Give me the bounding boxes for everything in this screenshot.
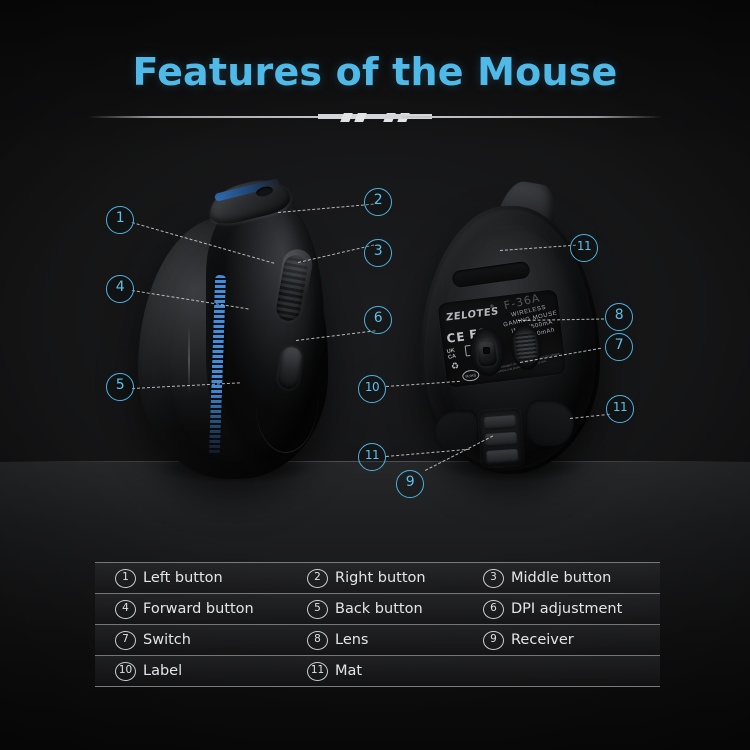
- callout-7[interactable]: 7: [605, 333, 633, 361]
- legend-item-8: 8 Lens: [307, 631, 483, 650]
- callout-11-right[interactable]: 11: [606, 395, 634, 423]
- callout-8[interactable]: 8: [605, 303, 633, 331]
- callout-10[interactable]: 10: [358, 375, 386, 403]
- legend-row: 1 Left button 2 Right button 3 Middle bu…: [95, 562, 660, 593]
- legend-item-6: 6 DPI adjustment: [483, 600, 622, 619]
- legend-label: Switch: [143, 632, 191, 648]
- legend-row: 7 Switch 8 Lens 9 Receiver: [95, 624, 660, 655]
- legend-label: Middle button: [511, 570, 611, 586]
- legend-number: 7: [115, 631, 136, 650]
- callout-5[interactable]: 5: [106, 373, 134, 401]
- legend-row: 10 Label 11 Mat: [95, 655, 660, 687]
- ce-mark-icon: CE: [446, 329, 467, 345]
- page-title: Features of the Mouse: [0, 50, 750, 94]
- callout-11-top[interactable]: 11: [570, 234, 598, 262]
- product-label: ZELOTES ® F-36A WIRELESS GAMING MOUSE IN…: [437, 289, 566, 388]
- lens-sensor-dot: [483, 347, 490, 354]
- legend-number: 9: [483, 631, 504, 650]
- title-divider: [88, 110, 662, 124]
- callout-11-bottom[interactable]: 11: [358, 443, 386, 471]
- infographic-canvas: Features of the Mouse ZELOTES ®: [0, 0, 750, 750]
- legend-number: 4: [115, 600, 136, 619]
- callout-6[interactable]: 6: [364, 306, 392, 334]
- legend-table: 1 Left button 2 Right button 3 Middle bu…: [95, 562, 660, 687]
- legend-label: DPI adjustment: [511, 601, 622, 617]
- legend-label: Receiver: [511, 632, 574, 648]
- legend-item-3: 3 Middle button: [483, 569, 611, 588]
- legend-label: Back button: [335, 601, 423, 617]
- legend-number: 6: [483, 600, 504, 619]
- legend-number: 5: [307, 600, 328, 619]
- legend-item-1: 1 Left button: [95, 569, 307, 588]
- registered-mark: ®: [490, 304, 494, 310]
- callout-9[interactable]: 9: [396, 470, 424, 498]
- mouse-side-view-photo: [128, 175, 343, 485]
- callout-4[interactable]: 4: [106, 275, 134, 303]
- callout-2[interactable]: 2: [364, 188, 392, 216]
- divider-line-left: [88, 116, 348, 118]
- legend-label: Mat: [335, 663, 362, 679]
- legend-item-5: 5 Back button: [307, 600, 483, 619]
- legend-number: 10: [115, 662, 136, 681]
- legend-number: 11: [307, 662, 328, 681]
- power-switch: [515, 331, 538, 362]
- legend-item-4: 4 Forward button: [95, 600, 307, 619]
- legend-number: 3: [483, 569, 504, 588]
- divider-slash-3: [340, 113, 353, 122]
- callout-3[interactable]: 3: [364, 239, 392, 267]
- legend-item-9: 9 Receiver: [483, 631, 574, 650]
- legend-label: Forward button: [143, 601, 254, 617]
- legend-label: Right button: [335, 570, 426, 586]
- callout-1[interactable]: 1: [106, 206, 134, 234]
- legend-number: 2: [307, 569, 328, 588]
- divider-slash-4: [354, 113, 367, 122]
- legend-number: 1: [115, 569, 136, 588]
- recycle-icon: ♻: [450, 360, 459, 372]
- ukca-mark-icon: UKCA: [446, 348, 456, 361]
- legend-item-11: 11 Mat: [307, 662, 483, 681]
- legend-item-10: 10 Label: [95, 662, 307, 681]
- legend-item-2: 2 Right button: [307, 569, 483, 588]
- legend-label: Left button: [143, 570, 223, 586]
- mouse-bottom-view-photo: ZELOTES ® F-36A WIRELESS GAMING MOUSE IN…: [408, 188, 613, 488]
- legend-label: Lens: [335, 632, 369, 648]
- divider-line-right: [402, 116, 662, 118]
- mat-pad-right: [526, 400, 574, 446]
- legend-label: Label: [143, 663, 182, 679]
- legend-number: 8: [307, 631, 328, 650]
- legend-row: 4 Forward button 5 Back button 6 DPI adj…: [95, 593, 660, 624]
- legend-item-7: 7 Switch: [95, 631, 307, 650]
